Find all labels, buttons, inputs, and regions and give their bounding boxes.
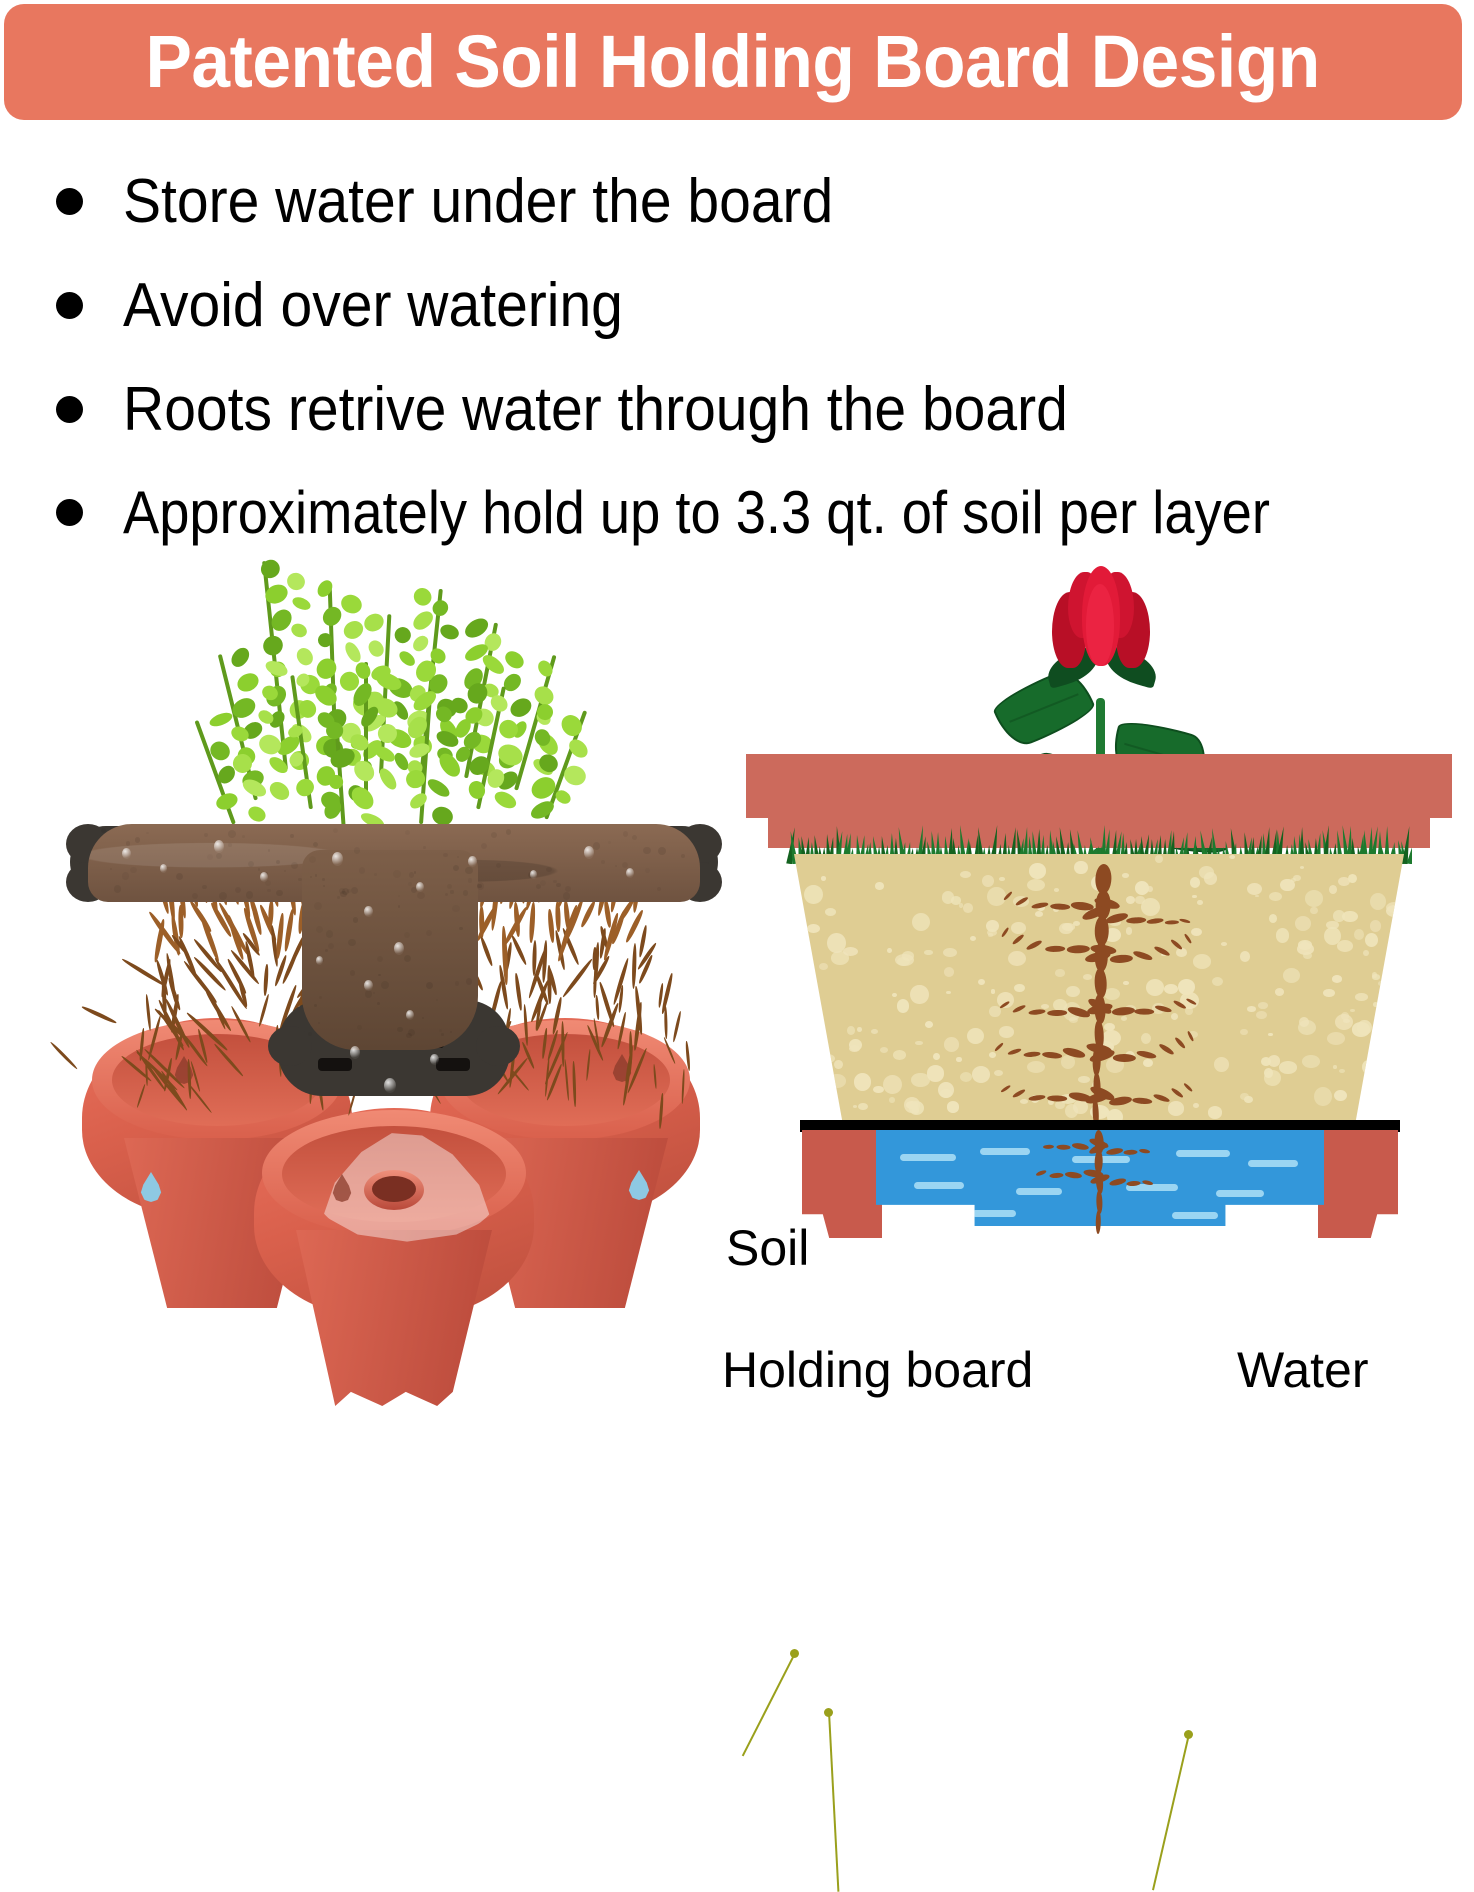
product-photo-planter [64, 548, 724, 1417]
list-item: Store water under the board [56, 170, 895, 233]
bullet-dot-icon [56, 188, 83, 215]
bullet-dot-icon [56, 396, 83, 423]
label-holding-board: Holding board [722, 1341, 1033, 1399]
list-item: Roots retrive water through the board [56, 378, 1150, 441]
label-water: Water [1237, 1341, 1369, 1399]
list-item: Approximately hold up to 3.3 qt. of soil… [56, 482, 1390, 543]
list-item-label: Approximately hold up to 3.3 qt. of soil… [123, 482, 1270, 543]
list-item-label: Avoid over watering [123, 274, 623, 337]
page-title: Patented Soil Holding Board Design [146, 25, 1320, 99]
soil-holding-board [64, 810, 724, 1110]
header-banner: Patented Soil Holding Board Design [4, 4, 1462, 120]
pot-wall-right [1318, 1130, 1398, 1238]
pot-wall-left [802, 1130, 882, 1238]
infographic-page: Patented Soil Holding Board Design Store… [0, 0, 1474, 1417]
bullet-dot-icon [56, 499, 83, 526]
list-item-label: Roots retrive water through the board [123, 378, 1068, 441]
bullet-dot-icon [56, 292, 83, 319]
list-item-label: Store water under the board [123, 170, 833, 233]
label-soil: Soil [726, 1219, 809, 1277]
rose-flower-icon [1042, 566, 1160, 702]
illustration-area [0, 548, 1474, 1417]
cross-section-diagram [724, 548, 1474, 1417]
list-item: Avoid over watering [56, 274, 666, 337]
pot-rim-right [1406, 754, 1452, 818]
